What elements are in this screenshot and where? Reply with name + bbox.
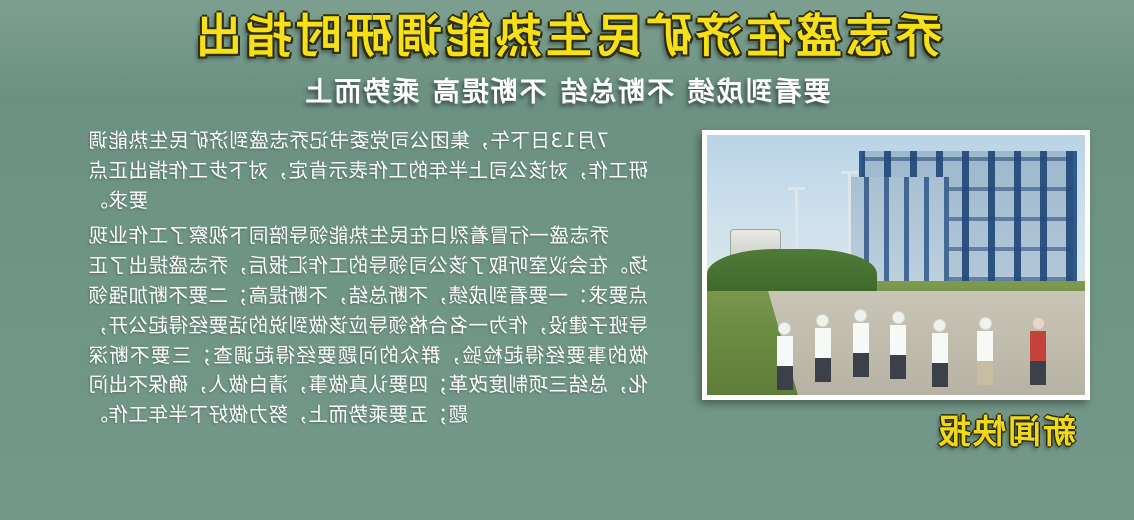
photo-caption: 新闻快报 <box>936 412 1076 452</box>
article-paragraph: 乔志盛一行冒着烈日在民生热能领导陪同下视察了工作业现场。在会议室听取了该公司领导… <box>88 221 648 430</box>
article-paragraph: 7月13日下午，集团公司党委书记乔志盛到济矿民生热能调研工作，对该公司上半年的工… <box>88 126 648 215</box>
newspaper-page: 乔志盛在济矿民生热能调研时指出 要看到成绩 不断总结 不断提高 乘势而上 <box>0 0 1134 520</box>
photo-tree-line <box>707 249 877 291</box>
page-title: 乔志盛在济矿民生热能调研时指出 <box>0 8 1134 64</box>
photo-person <box>814 314 832 382</box>
article-body: 7月13日下午，集团公司党委书记乔志盛到济矿民生热能调研工作，对该公司上半年的工… <box>88 126 648 436</box>
photo-person <box>852 309 870 377</box>
photo-person <box>889 311 907 379</box>
photo-person <box>776 322 794 390</box>
photo-block: 新闻快报 <box>702 130 1090 400</box>
page-subtitle: 要看到成绩 不断总结 不断提高 乘势而上 <box>0 76 1134 110</box>
photo-person <box>976 317 994 385</box>
photo-person <box>931 319 949 387</box>
photo-person <box>1029 317 1047 385</box>
news-photo <box>702 130 1090 400</box>
